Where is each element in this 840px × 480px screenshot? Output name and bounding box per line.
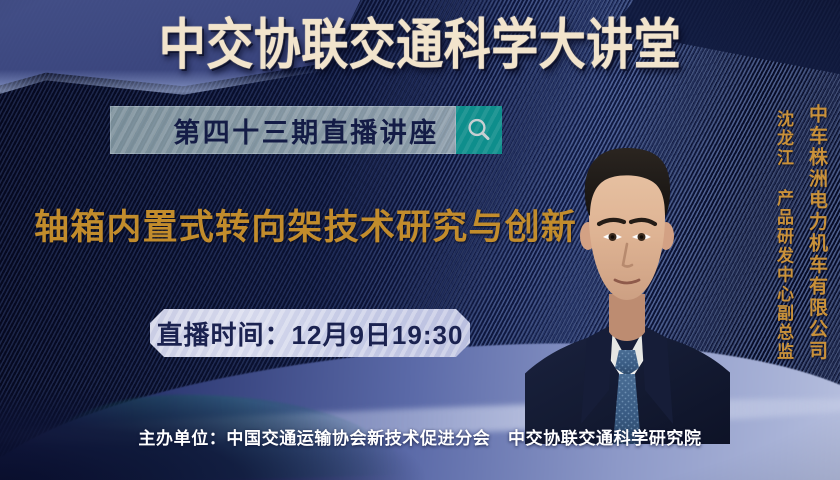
search-button[interactable] <box>456 106 502 154</box>
broadcast-time-label: 直播时间：12月9日19:30 <box>157 315 464 352</box>
speaker-company: 中车株洲电力机车有限公司 <box>803 104 830 362</box>
webinar-poster: 中交协联交通科学大讲堂 第四十三期直播讲座 轴箱内置式转向架技术研究与创新 直播… <box>0 0 840 480</box>
session-label-bar: 第四十三期直播讲座 <box>110 106 456 154</box>
broadcast-time-badge: 直播时间：12月9日19:30 <box>150 309 470 357</box>
lecture-topic: 轴箱内置式转向架技术研究与创新 <box>34 199 577 250</box>
organizer-footer: 主办单位：中国交通运输协会新技术促进分会 中交协联交通科学研究院 <box>0 424 840 449</box>
session-label: 第四十三期直播讲座 <box>127 111 439 150</box>
page-title: 中交协联交通科学大讲堂 <box>0 17 840 74</box>
search-icon <box>465 116 493 144</box>
speaker-name-title: 沈龙江 产品研发中心副总监 <box>771 110 796 362</box>
neck <box>609 294 645 341</box>
speaker-portrait <box>525 124 730 444</box>
